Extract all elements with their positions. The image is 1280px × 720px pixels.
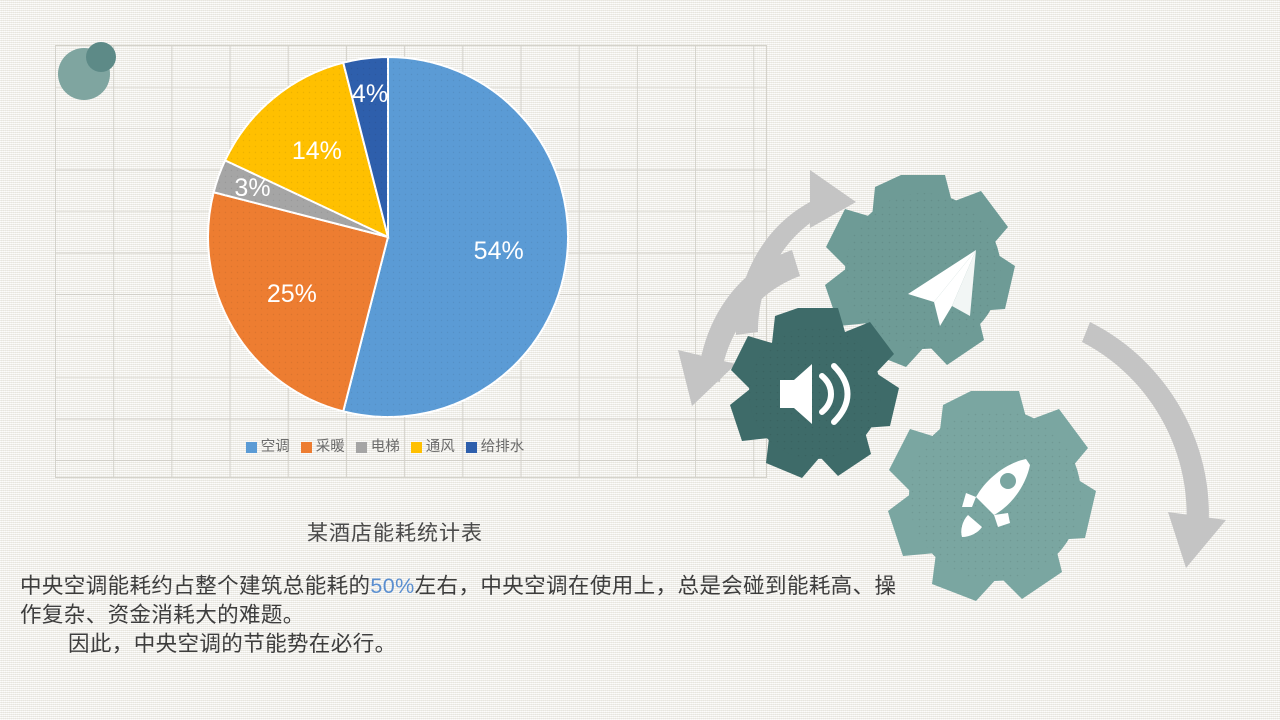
legend-label: 给排水: [481, 440, 525, 455]
legend-label: 电梯: [371, 440, 400, 455]
legend-item[interactable]: 空调: [246, 440, 290, 455]
slide-canvas: 54%25%3%14%4% 空调采暖电梯通风给排水 某酒店能耗统计表: [0, 0, 1280, 720]
legend-item[interactable]: 通风: [411, 440, 455, 455]
gear-rocket: [888, 391, 1096, 601]
pie-slice-label: 54%: [474, 237, 524, 265]
pie-slice-label: 14%: [292, 137, 342, 165]
legend-item[interactable]: 采暖: [301, 440, 345, 455]
pie-slice-label: 4%: [352, 80, 388, 108]
legend-label: 通风: [426, 440, 455, 455]
pie-slice-label: 25%: [267, 280, 317, 308]
legend-swatch-icon: [356, 442, 367, 453]
legend-swatch-icon: [466, 442, 477, 453]
legend-swatch-icon: [411, 442, 422, 453]
legend-item[interactable]: 给排水: [466, 440, 525, 455]
body-line1-part1: 中央空调能耗约占整个建筑总能耗的: [20, 574, 370, 598]
legend-item[interactable]: 电梯: [356, 440, 400, 455]
pie-chart-svg: 54%25%3%14%4%: [206, 55, 570, 419]
legend-label: 空调: [261, 440, 290, 455]
chart-legend: 空调采暖电梯通风给排水: [0, 440, 770, 455]
body-paragraph: 中央空调能耗约占整个建筑总能耗的50%左右，中央空调在使用上，总是会碰到能耗高、…: [20, 572, 900, 659]
gear-speaker: [730, 308, 899, 478]
body-line2: 因此，中央空调的节能势在必行。: [20, 630, 900, 659]
body-accent-value: 50%: [370, 574, 414, 598]
pie-chart: 54%25%3%14%4%: [206, 55, 570, 419]
legend-label: 采暖: [316, 440, 345, 455]
legend-swatch-icon: [301, 442, 312, 453]
arrow-large-arc-icon: [1082, 322, 1226, 568]
legend-swatch-icon: [246, 442, 257, 453]
pie-slice-label: 3%: [234, 174, 270, 202]
